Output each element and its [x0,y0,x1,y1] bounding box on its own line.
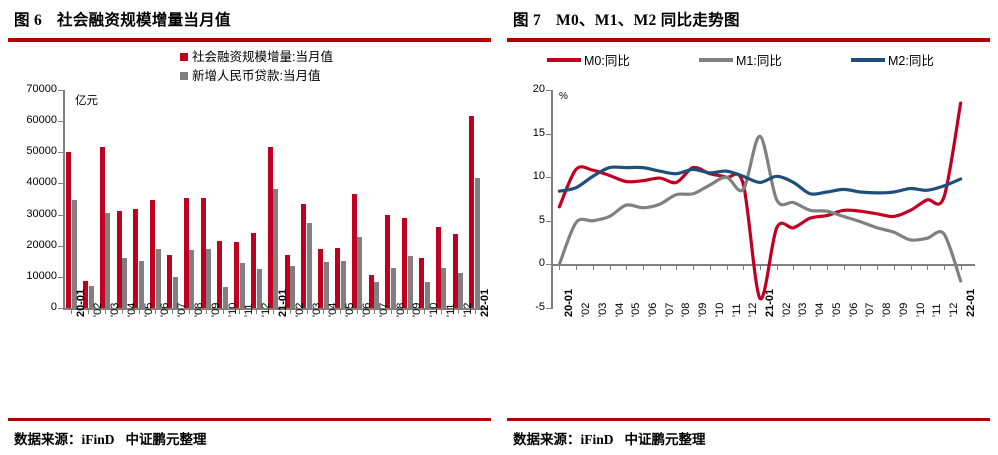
x-tick-mark-9 [710,265,711,270]
x-tick-mark-13 [777,265,778,270]
bar-sfrz-20 [402,218,407,308]
bar-sfrz-2 [100,147,105,308]
y-axis-line [63,90,65,309]
x-axis-label-1: '02 [580,303,592,317]
figure-7-source: 数据来源：iFinD中证鹏元整理 [513,428,706,448]
source-db-left: iFinD [82,432,115,447]
x-tick-mark-7 [676,265,677,270]
x-axis-label-0: 20-01 [563,289,575,317]
bar-loans-8 [206,249,211,308]
x-tick-mark-5 [155,309,156,314]
x-tick-mark-10 [727,265,728,270]
x-tick-mark-22 [927,265,928,270]
x-tick-mark-7 [189,309,190,314]
source-prefix-left: 数据来源： [14,432,82,447]
y-tick-label-3: 30000 [5,209,57,220]
figure-7-top-rule [507,38,990,42]
bar-loans-2 [105,213,110,308]
x-axis-label-11: '12 [747,303,759,317]
x-axis-label-17: '06 [848,303,860,317]
x-tick-mark-14 [307,309,308,314]
x-axis-label-24: 22-01 [479,289,491,317]
x-tick-mark-17 [357,309,358,314]
bar-loans-14 [307,223,312,308]
bar-loans-16 [341,261,346,308]
x-tick-mark-15 [323,309,324,314]
x-axis-label-4: '05 [143,303,155,317]
source-org-left: 中证鹏元整理 [126,432,207,447]
x-axis-label-8: '09 [697,303,709,317]
bar-sfrz-8 [201,198,206,308]
bar-loans-5 [156,249,161,308]
y-tick-mark [58,246,63,247]
x-axis-label-8: '09 [210,303,222,317]
source-db-right: iFinD [581,432,614,447]
y-tick-label-6: 60000 [5,115,57,126]
figure-7-title-text: M0、M1、M2 同比走势图 [556,12,740,29]
x-axis-label-19: '08 [881,303,893,317]
x-axis-label-13: '02 [781,303,793,317]
x-axis-label-6: '07 [176,303,188,317]
x-axis-label-22: '11 [445,303,457,317]
x-tick-mark-3 [610,265,611,270]
bar-sfrz-16 [335,248,340,308]
bar-sfrz-3 [117,211,122,308]
x-tick-mark-12 [273,309,274,314]
x-axis-label-19: '08 [395,303,407,317]
y-axis-unit-label: 亿元 [75,92,98,108]
x-tick-mark-23 [458,309,459,314]
figures-page: 图 6社会融资规模增量当月值 0100002000030000400005000… [0,0,998,455]
x-tick-mark-4 [626,265,627,270]
figure-6-number: 图 6 [14,12,42,29]
x-tick-mark-0 [559,265,560,270]
legend-swatch-sfrz [180,53,188,61]
x-axis-label-6: '07 [664,303,676,317]
legend-item-0: 社会融资规模增量:当月值 [180,46,333,65]
x-tick-mark-11 [743,265,744,270]
x-axis-label-5: '06 [159,303,171,317]
y-tick-mark [58,277,63,278]
x-tick-mark-8 [693,265,694,270]
bar-sfrz-0 [66,152,71,308]
x-axis-label-16: '05 [831,303,843,317]
x-tick-mark-3 [122,309,123,314]
x-axis-label-12: 21-01 [277,289,289,317]
x-tick-mark-12 [760,265,761,270]
figure-7-number: 图 7 [513,12,541,29]
bar-loans-10 [240,263,245,308]
figure-6-title-text: 社会融资规模增量当月值 [57,12,231,29]
bar-loans-3 [122,258,127,308]
y-tick-mark [58,121,63,122]
x-tick-mark-16 [340,309,341,314]
x-axis-label-14: '03 [797,303,809,317]
legend-label-1: 新增人民币贷款:当月值 [192,69,320,83]
x-axis-label-16: '05 [344,303,356,317]
bar-sfrz-19 [385,215,390,308]
line-m1 [559,136,960,281]
x-axis-label-15: '04 [327,303,339,317]
y-tick-label-1: 10000 [5,271,57,282]
x-tick-mark-10 [239,309,240,314]
bar-sfrz-4 [133,209,138,308]
x-tick-mark-18 [374,309,375,314]
y-tick-mark [58,90,63,91]
figure-6-source: 数据来源：iFinD中证鹏元整理 [14,428,207,448]
bar-loans-13 [290,266,295,308]
figure-7-panel: 图 7M0、M1、M2 同比走势图 -505101520%M0:同比M1:同比M… [499,0,998,455]
x-tick-mark-21 [911,265,912,270]
figure-7-chart: -505101520%M0:同比M1:同比M2:同比20-01'02'03'04… [499,48,998,378]
x-axis-label-1: '02 [92,303,104,317]
x-axis-label-22: '11 [931,303,943,317]
bar-sfrz-11 [251,233,256,308]
x-axis-label-3: '04 [614,303,626,317]
x-axis-label-24: 22-01 [965,289,977,317]
bar-sfrz-10 [234,242,239,308]
x-tick-mark-2 [105,309,106,314]
bar-sfrz-5 [150,200,155,308]
bar-sfrz-9 [217,241,222,308]
x-axis-label-13: '02 [294,303,306,317]
y-tick-label-2: 20000 [5,240,57,251]
figure-6-panel: 图 6社会融资规模增量当月值 0100002000030000400005000… [0,0,499,455]
bar-sfrz-23 [453,234,458,308]
x-axis-label-18: '07 [864,303,876,317]
bar-sfrz-17 [352,194,357,308]
bar-loans-15 [324,262,329,308]
y-tick-mark [58,215,63,216]
x-axis-label-21: '10 [915,303,927,317]
bar-loans-17 [357,237,362,308]
x-axis-label-17: '06 [361,303,373,317]
x-tick-mark-19 [391,309,392,314]
x-tick-mark-18 [860,265,861,270]
x-tick-mark-24 [475,309,476,314]
legend-swatch-loans [180,72,188,80]
bar-loans-7 [189,250,194,308]
x-tick-mark-23 [944,265,945,270]
x-axis-label-4: '05 [630,303,642,317]
x-tick-mark-22 [441,309,442,314]
x-tick-mark-2 [593,265,594,270]
x-axis-label-0: 20-01 [75,289,87,317]
y-tick-label-0: 0 [5,302,57,313]
x-tick-mark-8 [206,309,207,314]
figure-6-top-rule [8,38,491,42]
bar-loans-4 [139,261,144,308]
x-axis-label-9: '10 [714,303,726,317]
bar-sfrz-7 [184,198,189,308]
legend-item-1: 新增人民币贷款:当月值 [180,65,320,84]
x-axis-label-11: '12 [260,303,272,317]
y-tick-label-5: 50000 [5,146,57,157]
figure-6-title: 图 6社会融资规模增量当月值 [14,8,231,30]
bar-loans-22 [441,268,446,308]
bar-sfrz-22 [436,227,441,308]
x-axis-label-15: '04 [814,303,826,317]
x-tick-mark-16 [827,265,828,270]
x-axis-label-2: '03 [597,303,609,317]
x-tick-mark-14 [793,265,794,270]
x-tick-mark-9 [223,309,224,314]
y-tick-label-7: 70000 [5,84,57,95]
y-tick-mark [58,183,63,184]
x-tick-mark-24 [961,265,962,270]
bar-sfrz-14 [301,204,306,308]
x-tick-mark-6 [172,309,173,314]
x-axis-label-20: '09 [898,303,910,317]
x-axis-label-18: '07 [378,303,390,317]
bar-sfrz-21 [419,258,424,308]
x-tick-mark-17 [844,265,845,270]
figure-6-bottom-rule [8,418,491,421]
x-tick-mark-21 [424,309,425,314]
y-tick-mark [58,308,63,309]
x-axis-label-7: '08 [193,303,205,317]
x-tick-mark-11 [256,309,257,314]
x-tick-mark-19 [877,265,878,270]
x-tick-mark-1 [88,309,89,314]
y-tick-label-4: 40000 [5,177,57,188]
x-tick-mark-20 [894,265,895,270]
legend-label-0: 社会融资规模增量:当月值 [192,50,333,64]
line-series-layer [499,48,998,378]
source-prefix-right: 数据来源： [513,432,581,447]
bar-loans-20 [408,256,413,308]
x-axis-label-21: '10 [428,303,440,317]
x-axis-label-23: '12 [462,303,474,317]
x-tick-mark-5 [643,265,644,270]
x-axis-label-10: '11 [243,303,255,317]
x-axis-label-23: '12 [948,303,960,317]
bar-sfrz-6 [167,255,172,308]
x-axis-label-2: '03 [109,303,121,317]
x-tick-mark-15 [810,265,811,270]
x-axis-label-7: '08 [680,303,692,317]
x-axis-label-5: '06 [647,303,659,317]
figure-7-title: 图 7M0、M1、M2 同比走势图 [513,8,740,30]
x-tick-mark-6 [660,265,661,270]
x-tick-mark-0 [71,309,72,314]
x-tick-mark-20 [407,309,408,314]
source-org-right: 中证鹏元整理 [625,432,706,447]
x-axis-label-10: '11 [731,303,743,317]
x-axis-label-12: 21-01 [764,289,776,317]
bar-sfrz-15 [318,249,323,308]
x-tick-mark-13 [290,309,291,314]
x-axis-label-20: '09 [411,303,423,317]
y-tick-mark [58,152,63,153]
bar-sfrz-24 [469,116,474,308]
x-axis-label-3: '04 [126,303,138,317]
x-tick-mark-1 [576,265,577,270]
x-tick-mark-4 [139,309,140,314]
x-axis-label-14: '03 [311,303,323,317]
bar-sfrz-12 [268,147,273,308]
figure-7-bottom-rule [507,418,990,421]
x-axis-label-9: '10 [227,303,239,317]
figure-6-chart: 010000200003000040000500006000070000亿元社会… [0,48,499,378]
